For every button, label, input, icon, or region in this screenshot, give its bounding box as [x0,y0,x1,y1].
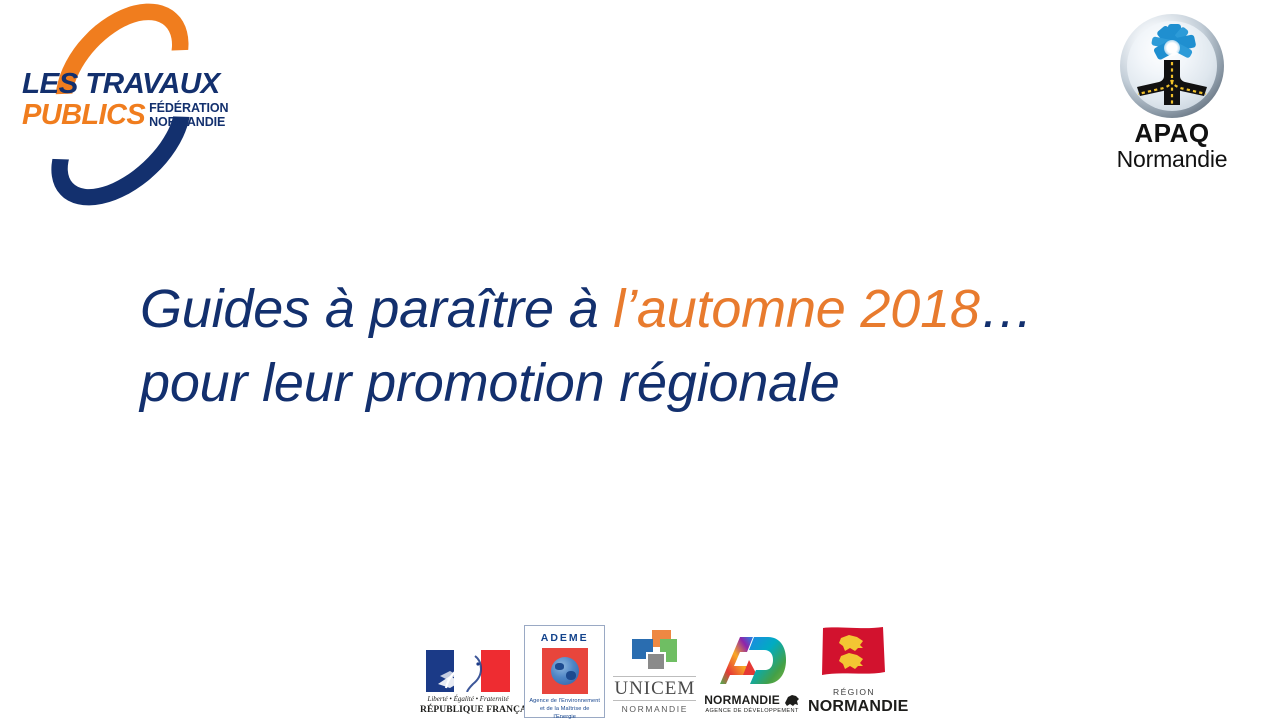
logo-les-travaux-publics: LES TRAVAUX PUBLICS FÉDÉRATION NORMANDIE [14,12,224,180]
slide-title: Guides à paraître à l’automne 2018… pour… [140,272,1150,420]
logo-apaq-normandie: APAQ Normandie [1092,14,1252,174]
presentation-slide: LES TRAVAUX PUBLICS FÉDÉRATION NORMANDIE [0,0,1280,720]
ad-normandie-subtitle: AGENCE DE DÉVELOPPEMENT [704,707,800,716]
ademe-subtitle-line2: et de la Maîtrise de l'Energie [529,705,600,720]
title-line1-accent: l’automne 2018 [613,279,979,339]
unicem-squares-icon [626,630,684,674]
region-label: RÉGION [808,687,900,698]
ademe-wordmark: ADEME [529,632,600,644]
lion-icon [784,693,800,707]
globe-icon [551,657,579,685]
partner-logos-strip: Liberté • Égalité • Fraternité RÉPUBLIQU… [420,614,900,718]
devise-text: Liberté • Égalité • Fraternité [420,694,516,704]
apaq-sphere-icon [1120,14,1224,118]
ad-normandie-word: NORMANDIE [704,693,780,707]
flower-core [1164,40,1180,56]
title-line-2: pour leur promotion régionale [140,346,1150,420]
french-flag-marianne-icon [426,650,510,692]
logo-republique-francaise: Liberté • Égalité • Fraternité RÉPUBLIQU… [420,650,516,718]
logo-region-normandie: RÉGION NORMANDIE [808,626,900,718]
travaux-publics-wordmark: LES TRAVAUX PUBLICS FÉDÉRATION NORMANDIE [22,70,222,130]
normandy-flag-icon [819,626,889,680]
travaux-publics-line1: LES TRAVAUX [22,70,226,99]
ademe-red-square [542,648,588,694]
apaq-subtitle: Normandie [1092,147,1252,172]
federation-line1: FÉDÉRATION [149,102,228,116]
title-line1-part1: Guides à paraître à [140,279,613,339]
republique-francaise-title: RÉPUBLIQUE FRANÇAISE [420,704,516,716]
federation-line2: NORMANDIE [149,116,228,130]
logo-ad-normandie: NORMANDIE AGENCE DE DÉVELOPPEMENT [704,635,800,718]
ad-monogram-icon [716,635,788,685]
apaq-label: APAQ [1092,120,1252,147]
travaux-publics-line2: PUBLICS [22,101,145,130]
marianne-profile-icon [426,650,510,692]
square-gray [646,652,666,671]
logo-unicem-normandie: UNICEM NORMANDIE [613,630,696,718]
unicem-wordmark: UNICEM [613,676,696,701]
federation-normandie-text: FÉDÉRATION NORMANDIE [149,102,228,129]
logo-ademe: ADEME Agence de l'Environnement et de la… [524,625,605,718]
road-fork-icon [1134,60,1210,105]
unicem-subtitle: NORMANDIE [613,703,696,716]
region-normandie-word: NORMANDIE [808,698,900,716]
ademe-subtitle-line1: Agence de l'Environnement [529,697,600,705]
title-line1-part3: … [980,279,1034,339]
title-line-1: Guides à paraître à l’automne 2018… [140,272,1150,346]
